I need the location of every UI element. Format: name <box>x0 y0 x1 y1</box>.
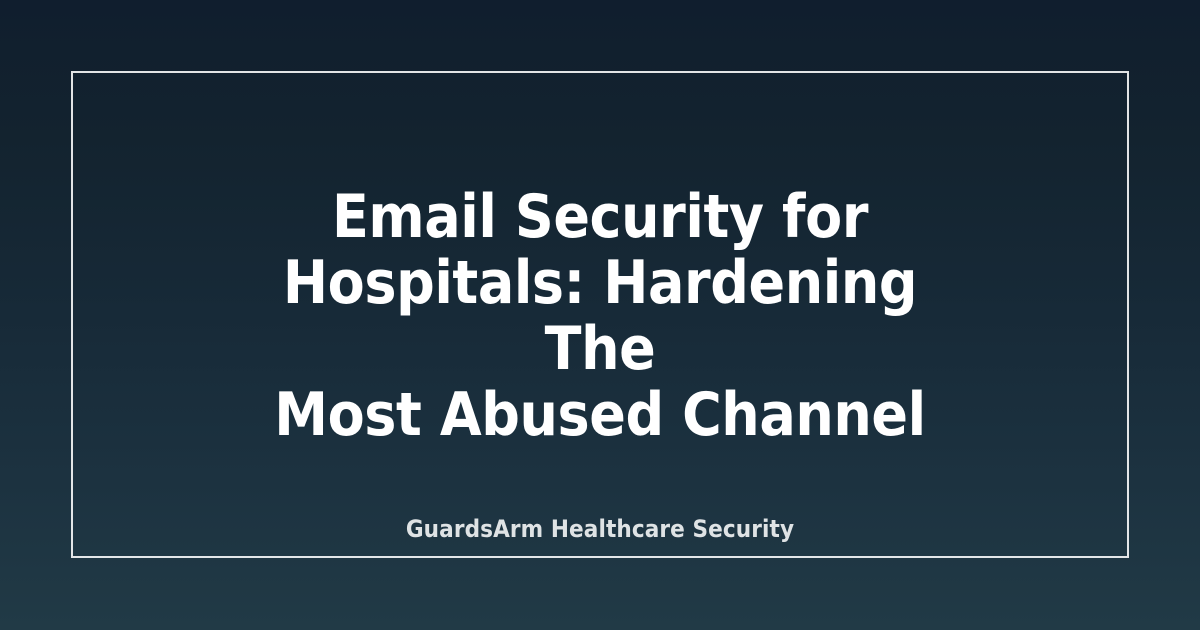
card-subtitle-brand: GuardsArm Healthcare Security <box>406 514 794 544</box>
card-title: Email Security for Hospitals: Hardening … <box>250 184 950 448</box>
card-content-area: Email Security for Hospitals: Hardening … <box>71 71 1129 558</box>
social-share-card: Email Security for Hospitals: Hardening … <box>0 0 1200 630</box>
